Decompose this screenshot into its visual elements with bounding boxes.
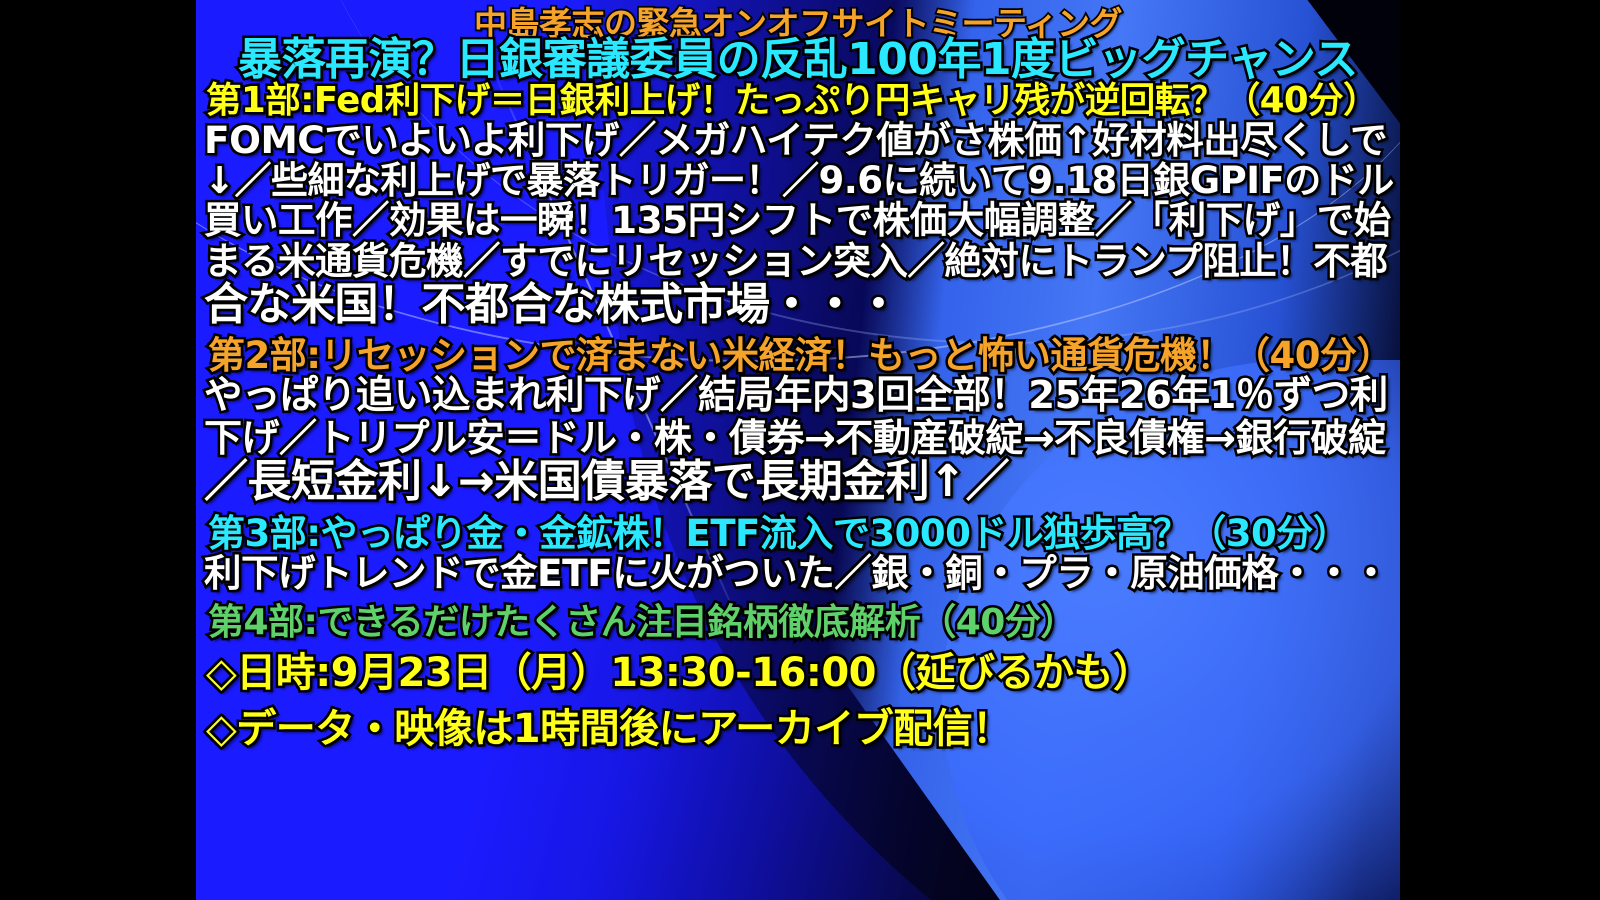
slide-canvas: 中島孝志の緊急オンオフサイトミーティング 暴落再演？日銀審議委員の反乱100年1… [196, 0, 1400, 900]
section-2-body-line-3: ／長短金利↓→米国債暴落で長期金利↑／ [202, 460, 1394, 504]
slide-stage: 中島孝志の緊急オンオフサイトミーティング 暴落再演？日銀審議委員の反乱100年1… [0, 0, 1600, 900]
footer-datetime: ◇日時:9月23日（月）13:30‐16:00（延びるかも） [202, 653, 1394, 693]
section-1-body-line-3: 買い工作／効果は一瞬！135円シフトで株価大幅調整／「利下げ」で始 [202, 202, 1394, 240]
slide-content: 中島孝志の緊急オンオフサイトミーティング 暴落再演？日銀審議委員の反乱100年1… [196, 0, 1400, 900]
section-4-heading: 第4部:できるだけたくさん注目銘柄徹底解析（40分） [202, 605, 1394, 641]
section-1-body-line-4: まる米通貨危機／すでにリセッション突入／絶対にトランプ阻止！不都 [202, 243, 1394, 281]
section-1-body-line-2: ↓／些細な利上げで暴落トリガー！／9.6に続いて9.18日銀GPIFのドル [202, 162, 1394, 199]
section-2-body-line-1: やっぱり追い込まれ利下げ／結局年内3回全部！25年26年1％ずつ利 [202, 377, 1394, 416]
section-2-body-line-2: 下げ／トリプル安＝ドル・株・債券→不動産破綻→不良債権→銀行破綻 [202, 419, 1394, 457]
letterbox-bar-right [1400, 0, 1600, 900]
slide-subtitle: 暴落再演？日銀審議委員の反乱100年1度ビッグチャンス [202, 38, 1394, 82]
section-2-heading: 第2部:リセッションで済まない米経済！もっと怖い通貨危機！（40分） [202, 337, 1394, 374]
letterbox-bar-left [0, 0, 196, 900]
section-1-heading: 第1部:Fed利下げ＝日銀利上げ！たっぷり円キャリ残が逆回転？（40分） [202, 83, 1394, 119]
footer-archive-note: ◇データ・映像は1時間後にアーカイブ配信！ [202, 709, 1394, 749]
section-3-body-line-1: 利下げトレンドで金ETFに火がついた／銀・銅・プラ・原油価格・・・ [202, 555, 1394, 593]
section-1-body-line-1: FOMCでいよいよ利下げ／メガハイテク値がさ株価↑好材料出尽くしで [202, 122, 1394, 160]
section-1-body-line-5: 合な米国！不都合な株式市場・・・ [202, 283, 1394, 327]
section-3-heading: 第3部:やっぱり金・金鉱株！ETF流入で3000ドル独歩高？（30分） [202, 515, 1394, 552]
